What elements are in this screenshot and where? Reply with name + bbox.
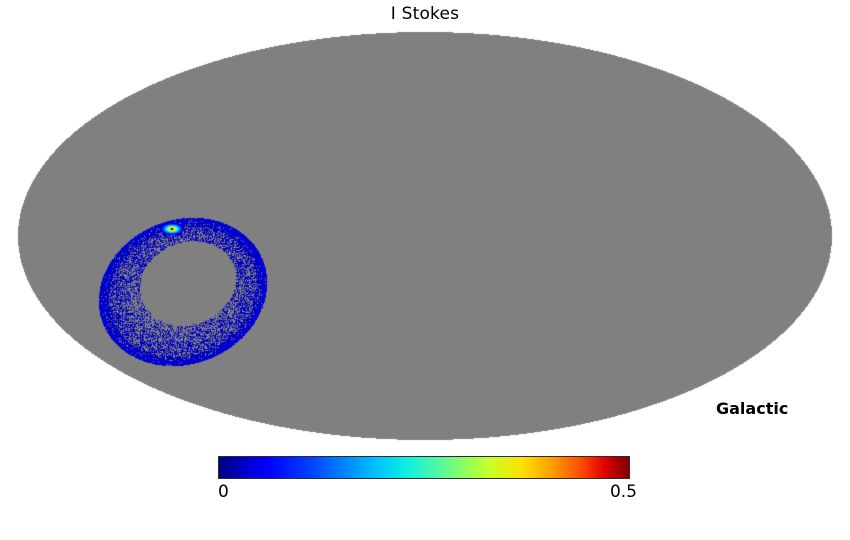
sky-map-mollweide[interactable] xyxy=(0,0,850,460)
colorbar-gradient[interactable] xyxy=(218,456,630,479)
coordinate-system-label: Galactic xyxy=(716,400,788,418)
colorbar-min-tick-label: 0 xyxy=(218,482,229,502)
figure-canvas: I Stokes Galactic 0 0.5 xyxy=(0,0,850,540)
colorbar-max-tick-label: 0.5 xyxy=(610,482,637,502)
colorbar: 0 0.5 xyxy=(218,456,630,480)
